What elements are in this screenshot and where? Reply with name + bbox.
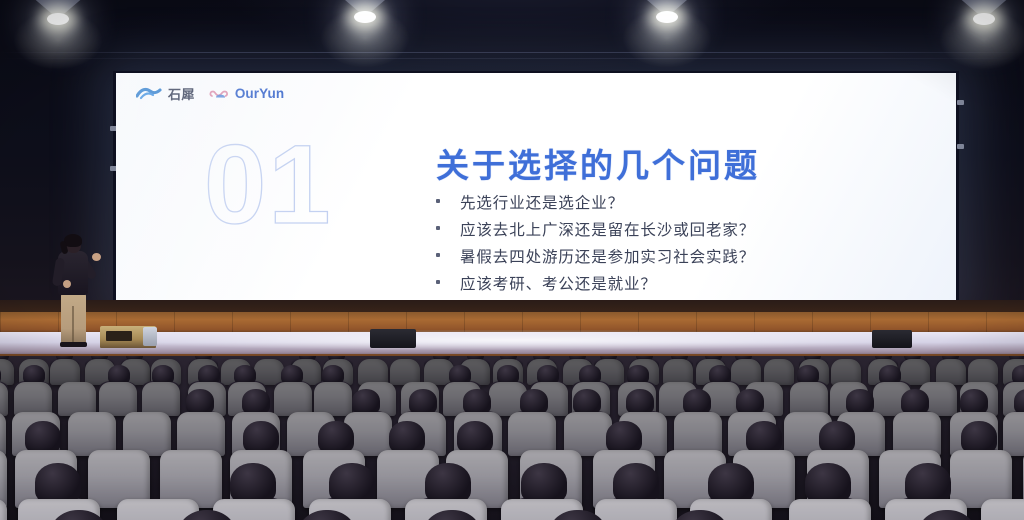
audience-member-head — [1014, 389, 1024, 414]
audience-member-head — [805, 463, 851, 503]
audience-member-head — [573, 389, 601, 414]
light-bulb — [656, 11, 678, 23]
bullet-marker-icon — [436, 253, 440, 257]
audience-member-head — [846, 389, 874, 414]
audience-seat — [14, 382, 52, 416]
audience-member-head — [463, 389, 491, 414]
audience-member-head — [198, 365, 220, 384]
projection-screen: 石犀 OurYun 01 关于选择的几个问题 先选行业还是选企业？ 应该去北上广… — [116, 73, 956, 305]
stage-floor-glow — [120, 330, 910, 350]
bullet-item: 先选行业还是选企业？ — [436, 191, 755, 213]
bullet-item: 暑假去四处游历还是参加实习社会实践？ — [436, 245, 755, 267]
podium-side-panel — [143, 327, 157, 346]
audience-seat — [564, 412, 612, 456]
stage-monitor-right — [872, 330, 912, 348]
slide-section-number: 01 — [204, 129, 333, 241]
bullet-text: 应该去北上广深还是留在长沙或回老家？ — [460, 218, 755, 240]
audience-seat — [981, 499, 1024, 520]
ceiling-spotlight — [29, 0, 87, 30]
audience-member-head — [318, 421, 354, 453]
slide-bullet-list: 先选行业还是选企业？ 应该去北上广深还是留在长沙或回老家？ 暑假去四处游历还是参… — [436, 191, 755, 294]
audience-member-head — [25, 421, 61, 453]
audience-member-head — [234, 365, 256, 384]
wall-seam — [0, 58, 1024, 59]
audience-member-head — [242, 389, 270, 414]
audience-member-head — [709, 365, 731, 384]
audience-member-head — [626, 389, 654, 414]
audience-member-head — [281, 365, 303, 384]
audience-member-head — [521, 463, 567, 503]
audience-member-head — [152, 365, 174, 384]
brand-shixi: 石犀 — [136, 84, 195, 103]
presenter-hand-right — [92, 253, 101, 261]
audience-member-head — [457, 421, 493, 453]
audience-seat — [177, 412, 225, 456]
audience-member-head — [613, 463, 659, 503]
presenter-hand-left — [63, 280, 71, 288]
bullet-text: 暑假去四处游历还是参加实习社会实践？ — [460, 245, 755, 267]
audience-member-head — [108, 365, 130, 384]
cloud-infinity-logo-icon — [209, 87, 229, 101]
presenter-shoes — [60, 342, 87, 347]
podium-screen — [106, 331, 132, 341]
ceiling-spotlight — [638, 0, 696, 28]
audience-member-head — [746, 421, 782, 453]
audience-member-head — [520, 389, 548, 414]
ceiling-spotlight — [336, 0, 394, 28]
audience-member-head — [537, 365, 559, 384]
audience-member-head — [960, 389, 988, 414]
screen-mount — [957, 144, 964, 149]
audience-member-head — [606, 421, 642, 453]
light-bulb — [47, 13, 69, 25]
bullet-marker-icon — [436, 226, 440, 230]
brand-ouryun: OurYun — [209, 86, 284, 101]
audience-member-head — [708, 463, 754, 503]
audience-member-head — [683, 389, 711, 414]
audience-member-head — [329, 463, 375, 503]
bullet-item: 应该考研、考公还是就业？ — [436, 272, 755, 294]
audience-member-head — [1012, 365, 1024, 384]
bullet-text: 应该考研、考公还是就业？ — [460, 272, 657, 294]
audience-member-head — [879, 365, 901, 384]
audience-member-head — [905, 463, 951, 503]
audience-member-head — [230, 463, 276, 503]
audience-member-head — [901, 389, 929, 414]
audience-member-head — [497, 365, 519, 384]
audience-member-head — [409, 389, 437, 414]
audience-seat — [508, 412, 556, 456]
audience-area — [0, 356, 1024, 520]
slide-title: 关于选择的几个问题 — [436, 139, 760, 187]
audience-member-head — [35, 463, 81, 503]
audience-seat — [789, 499, 871, 520]
audience-member-head — [322, 365, 344, 384]
audience-seat — [893, 412, 941, 456]
auditorium-scene: 石犀 OurYun 01 关于选择的几个问题 先选行业还是选企业？ 应该去北上广… — [0, 0, 1024, 520]
wave-swoosh-logo-icon — [136, 87, 162, 100]
audience-member-head — [449, 365, 471, 384]
audience-member-head — [425, 463, 471, 503]
bullet-text: 先选行业还是选企业？ — [460, 191, 624, 213]
audience-member-head — [23, 365, 45, 384]
ceiling-spotlight — [955, 0, 1013, 30]
brand-name-ouryun: OurYun — [235, 86, 284, 101]
screen-mount — [957, 100, 964, 105]
audience-seat — [99, 382, 137, 416]
audience-member-head — [961, 421, 997, 453]
audience-member-head — [579, 365, 601, 384]
audience-seat — [314, 382, 352, 416]
presenter — [52, 236, 102, 346]
audience-member-head — [389, 421, 425, 453]
audience-seat — [790, 382, 828, 416]
audience-seat — [1003, 412, 1024, 456]
audience-member-head — [819, 421, 855, 453]
bullet-marker-icon — [436, 199, 440, 203]
audience-seat — [674, 412, 722, 456]
audience-seat — [0, 412, 6, 456]
audience-seat — [595, 499, 677, 520]
audience-seat — [0, 450, 7, 508]
audience-member-head — [352, 389, 380, 414]
light-bulb — [973, 13, 995, 25]
audience-seat — [142, 382, 180, 416]
audience-member-head — [736, 389, 764, 414]
audience-seat — [123, 412, 171, 456]
audience-seat — [68, 412, 116, 456]
audience-member-head — [797, 365, 819, 384]
audience-seat — [274, 382, 312, 416]
wall-seam — [0, 52, 1024, 53]
slide-logo-bar: 石犀 OurYun — [136, 84, 284, 103]
audience-member-head — [186, 389, 214, 414]
brand-name-shixi: 石犀 — [168, 84, 195, 103]
light-bulb — [354, 11, 376, 23]
audience-seat — [58, 382, 96, 416]
audience-member-head — [243, 421, 279, 453]
audience-member-head — [627, 365, 649, 384]
bullet-marker-icon — [436, 280, 440, 284]
bullet-item: 应该去北上广深还是留在长沙或回老家？ — [436, 218, 755, 240]
presenter-legs — [61, 292, 86, 344]
stage-monitor-left — [370, 329, 416, 348]
